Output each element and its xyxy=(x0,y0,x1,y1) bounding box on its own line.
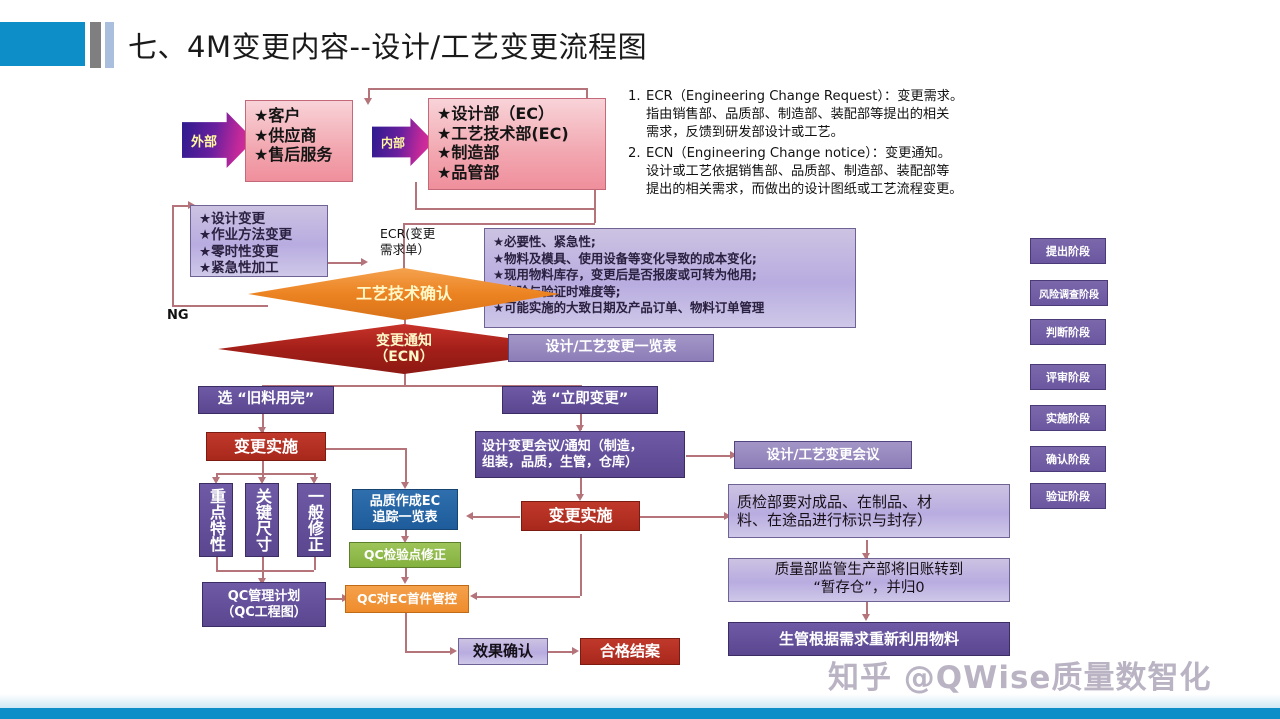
stage-chip-6: 确认阶段 xyxy=(1030,446,1106,472)
box-qc-inspection-point-fix: QC检验点修正 xyxy=(349,542,461,568)
stage-chip-1: 提出阶段 xyxy=(1030,238,1106,264)
arrow-implright-to-qec xyxy=(466,512,473,520)
connector-implright-right xyxy=(640,516,728,518)
connector-implleft-right xyxy=(326,448,406,450)
chevron-external: 外部 xyxy=(182,112,254,168)
box-planning-reuse-material: 生管根据需求重新利用物料 xyxy=(728,622,1010,656)
arrow-to-external-box xyxy=(364,98,372,105)
connector-gf-down xyxy=(314,557,316,570)
label-ng: NG xyxy=(167,308,189,325)
connector-changetypes-right xyxy=(327,262,363,264)
box-internal-departments: ★设计部（EC） ★工艺技术部(EC) ★制造部 ★品管部 xyxy=(428,98,606,190)
page-title: 七、4M变更内容--设计/工艺变更流程图 xyxy=(128,24,647,66)
connector-ext-right xyxy=(415,208,595,210)
note-item-1: 1. ECR（Engineering Change Request）：变更需求。… xyxy=(628,88,1133,143)
arrow-implright-to-qcfa xyxy=(470,592,477,600)
header-accent-lightblue xyxy=(105,22,114,68)
stage-chip-4: 评审阶段 xyxy=(1030,364,1106,390)
connector-ng-left xyxy=(172,305,268,307)
box-design-change-meeting-notice: 设计变更会议/通知（制造， 组装，品质，生管，仓库） xyxy=(475,431,685,478)
header-accent-blue xyxy=(0,22,85,66)
chevron-internal: 内部 xyxy=(372,118,434,166)
box-choose-immediate: 选 “立即变更” xyxy=(502,386,658,414)
arrow-to-planning-reuse xyxy=(862,614,870,621)
stage-chip-5: 实施阶段 xyxy=(1030,405,1106,431)
label-ecr: ECR(变更 需求单） xyxy=(380,226,435,259)
connector-implleft-down xyxy=(405,448,407,486)
chevron-external-label: 外部 xyxy=(191,131,217,150)
chevron-internal-label: 内部 xyxy=(381,134,405,151)
connector-qcfa-right xyxy=(405,651,453,653)
arrow-to-pass-close xyxy=(572,647,579,655)
box-qc-ec-first-article-control: QC对EC首件管控 xyxy=(345,585,469,613)
box-qc-dept-marking: 质检部要对成品、在制品、材 料、在途品进行标识与封存） xyxy=(728,484,1010,538)
box-general-correction: 一般修正 xyxy=(297,483,331,557)
note-1-text: ECR（Engineering Change Request）：变更需求。 指由… xyxy=(646,88,1133,143)
connector-ng-up xyxy=(172,205,174,305)
connector-kd-down xyxy=(262,557,264,570)
stage-chip-2: 风险调查阶段 xyxy=(1030,280,1108,306)
connector-implright-down xyxy=(580,534,582,596)
box-quality-ec-tracking-list: 品质作成EC 追踪一览表 xyxy=(352,489,458,530)
footer-fade xyxy=(0,694,1280,708)
box-review-criteria: ★必要性、紧急性; ★物料及模具、使用设备等变化导致的成本变化; ★现用物料库存… xyxy=(484,228,856,328)
stage-chip-3: 判断阶段 xyxy=(1030,319,1106,345)
connector-int-down xyxy=(594,190,596,223)
connector-impl-bracket xyxy=(216,473,314,475)
box-design-process-change-meeting: 设计/工艺变更会议 xyxy=(734,441,912,469)
box-choose-use-up: 选 “旧料用完” xyxy=(198,386,334,414)
box-effect-confirmation: 效果确认 xyxy=(458,638,548,665)
connector-ext-down xyxy=(415,182,417,208)
connector-three-merge xyxy=(216,570,314,572)
connector-impl-stem xyxy=(262,461,264,473)
note-1-number: 1. xyxy=(628,88,646,143)
box-change-implementation-left: 变更实施 xyxy=(206,432,326,461)
arrow-changetypes-to-diamond xyxy=(361,258,368,266)
box-change-types: ★设计变更 ★作业方法变更 ★零时性变更 ★紧急性加工 xyxy=(190,205,328,277)
stage-chip-7: 验证阶段 xyxy=(1030,483,1106,509)
arrow-to-qc-first-article xyxy=(401,577,409,584)
box-pass-close-case: 合格结案 xyxy=(580,638,680,665)
box-change-list: 设计/工艺变更一览表 xyxy=(508,334,714,362)
arrow-meeting-to-impl-right xyxy=(576,494,584,501)
box-key-dimension: 关键尺寸 xyxy=(245,483,279,557)
slide-canvas: 七、4M变更内容--设计/工艺变更流程图 xyxy=(0,0,1280,719)
connector-bus-h xyxy=(403,223,595,225)
box-change-implementation-right: 变更实施 xyxy=(521,501,640,531)
arrow-to-quality-ec-list xyxy=(401,482,409,489)
box-qc-management-plan: QC管理计划 （QC工程图） xyxy=(202,582,326,627)
notes-list: 1. ECR（Engineering Change Request）：变更需求。… xyxy=(628,88,1133,201)
note-2-number: 2. xyxy=(628,145,646,200)
note-item-2: 2. ECN（Engineering Change notice）：变更通知。 … xyxy=(628,145,1133,200)
note-2-text: ECN（Engineering Change notice）：变更通知。 设计或… xyxy=(646,145,1133,200)
box-external-sources: ★客户 ★供应商 ★售后服务 xyxy=(245,100,353,182)
connector-implright-left xyxy=(470,516,520,518)
connector-meeting-right xyxy=(686,455,734,457)
connector-qcfa-down xyxy=(405,613,407,651)
box-key-characteristic: 重点特性 xyxy=(199,483,233,557)
connector-kc-down xyxy=(216,557,218,570)
box-quality-dept-transfer: 质量部监管生产部将旧账转到 “暂存仓”，并归0 xyxy=(728,558,1010,602)
arrow-to-effect-confirm xyxy=(450,647,457,655)
header-accent-gray xyxy=(90,22,101,68)
watermark: 知乎 @QWise质量数智化 xyxy=(828,652,1211,697)
connector-top-bracket xyxy=(368,88,588,90)
footer-bar xyxy=(0,708,1280,719)
connector-implright-to-qcfa xyxy=(474,596,580,598)
